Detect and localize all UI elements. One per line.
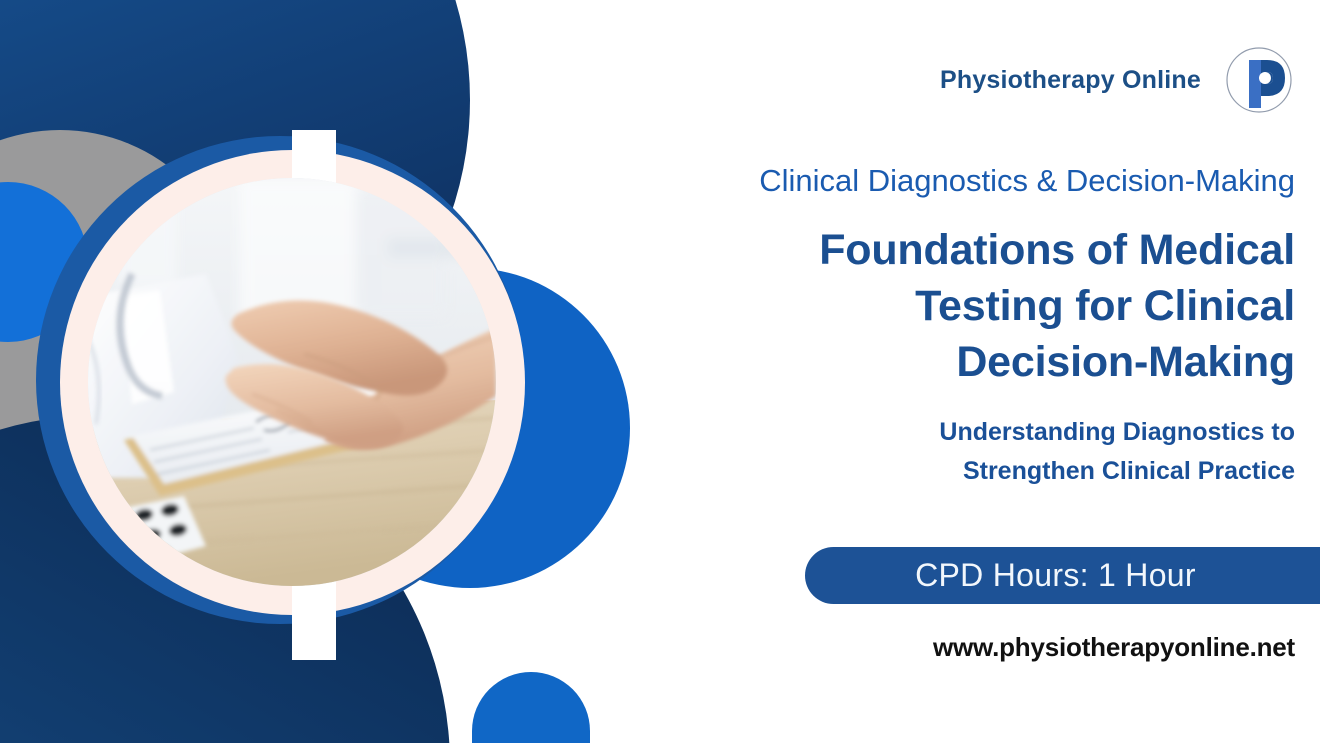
cpd-hours-badge: CPD Hours: 1 Hour (805, 547, 1320, 604)
course-title-line-3: Decision-Making (635, 334, 1295, 390)
website-url[interactable]: www.physiotherapyonline.net (635, 632, 1295, 663)
course-subtitle: Understanding Diagnostics to Strengthen … (635, 413, 1295, 491)
brand-header: Physiotherapy Online (940, 44, 1295, 116)
photo-illustration (88, 178, 496, 586)
bright-blue-bottom-shape (472, 672, 590, 743)
course-title-line-1: Foundations of Medical (635, 222, 1295, 278)
clinical-consultation-photo (88, 178, 496, 586)
course-subtitle-line-1: Understanding Diagnostics to (635, 413, 1295, 452)
course-promo-banner: Physiotherapy Online Clinical Diagnostic… (0, 0, 1320, 743)
p-logo-mark (1223, 44, 1295, 116)
cpd-hours-label: CPD Hours: 1 Hour (915, 557, 1196, 594)
brand-name: Physiotherapy Online (940, 66, 1201, 95)
course-category-eyebrow: Clinical Diagnostics & Decision-Making (635, 163, 1295, 199)
content-column: Physiotherapy Online Clinical Diagnostic… (630, 0, 1320, 743)
course-title-line-2: Testing for Clinical (635, 278, 1295, 334)
course-subtitle-line-2: Strengthen Clinical Practice (635, 452, 1295, 491)
physiotherapy-online-logo-icon (1223, 44, 1295, 116)
course-title: Foundations of Medical Testing for Clini… (635, 222, 1295, 390)
decorative-shapes (0, 0, 660, 743)
